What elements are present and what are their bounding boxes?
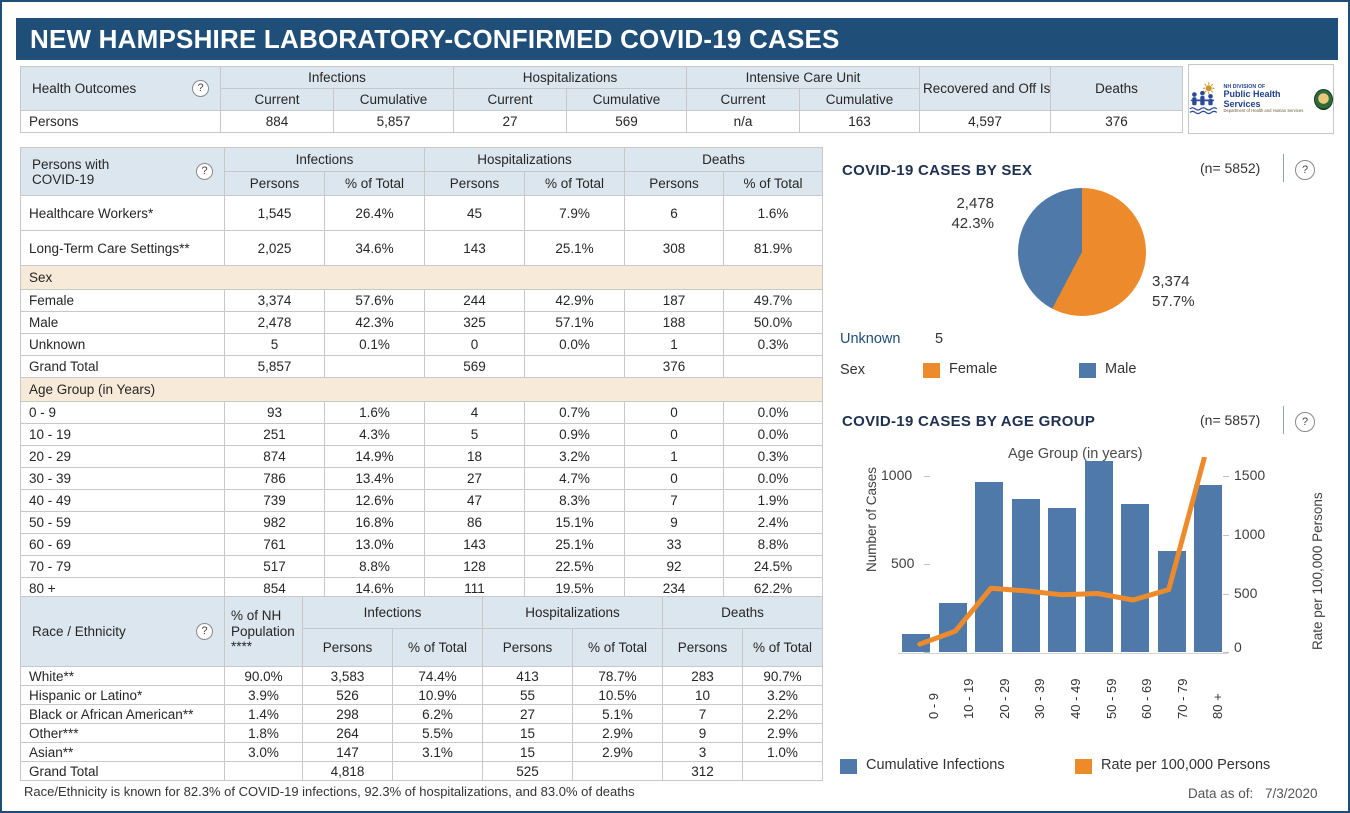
table-row: 0 - 9 93 1.6% 4 0.7% 0 0.0% [21, 402, 823, 424]
table-cell: 128 [425, 556, 525, 578]
table-cell: 93 [225, 402, 325, 424]
table-cell: 5,857 [225, 356, 325, 378]
table-cell: 2.9% [743, 724, 823, 743]
group-header-icu: Intensive Care Unit [687, 67, 920, 89]
female-count: 3,374 [1152, 272, 1244, 292]
x-tick-label: 0 - 9 [926, 693, 941, 719]
help-icon[interactable]: ? [196, 623, 213, 640]
table-cell: 526 [303, 686, 393, 705]
subheader-cell: % of Total [573, 629, 663, 667]
table-cell: 3.2% [525, 446, 625, 468]
table-cell: 3.9% [225, 686, 303, 705]
table-cell: 5.1% [573, 705, 663, 724]
subheader-cell: Persons [425, 172, 525, 196]
table-cell [743, 762, 823, 781]
table-cell: 0.7% [525, 402, 625, 424]
table-row: Female 3,374 57.6% 244 42.9% 187 49.7% [21, 290, 823, 312]
pop-header-line2: Population [231, 624, 295, 639]
health-outcomes-label: Health Outcomes [32, 81, 136, 96]
x-tick-label: 40 - 49 [1068, 679, 1083, 719]
table-cell: 15.1% [525, 512, 625, 534]
female-percent: 57.7% [1152, 292, 1244, 312]
table-cell: 2.9% [573, 724, 663, 743]
table-cell: 163 [800, 111, 920, 133]
table-cell: 569 [567, 111, 687, 133]
table-cell: 26.4% [325, 196, 425, 231]
table-cell: 308 [625, 231, 724, 266]
y2-tick-mark [1223, 535, 1229, 536]
table-cell: 10.9% [393, 686, 483, 705]
subheader-cell: Persons [225, 172, 325, 196]
row-label: Grand Total [21, 762, 225, 781]
cases-by-age-title: COVID-19 CASES BY AGE GROUP [842, 413, 1095, 430]
y2-tick-mark [1223, 594, 1229, 595]
table-cell: 6 [625, 196, 724, 231]
group-header-hospitalizations: Hospitalizations [425, 148, 625, 172]
table-cell: 0.0% [724, 468, 823, 490]
table-row: 10 - 19 251 4.3% 5 0.9% 0 0.0% [21, 424, 823, 446]
legend-label-cumulative-infections[interactable]: Cumulative Infections [866, 757, 1005, 773]
legend-label-rate[interactable]: Rate per 100,000 Persons [1101, 757, 1270, 773]
data-as-of-label: Data as of: [1188, 786, 1253, 801]
table-cell: 74.4% [393, 667, 483, 686]
table-cell: 413 [483, 667, 573, 686]
y-axis-label-right: Rate per 100,000 Persons [1310, 492, 1325, 650]
subheader-cell: % of Total [525, 172, 625, 196]
table-cell: 9 [663, 724, 743, 743]
table-cell: 10 [663, 686, 743, 705]
group-header-deaths: Deaths [1051, 67, 1183, 111]
table-cell: 15 [483, 743, 573, 762]
table-cell: 188 [625, 312, 724, 334]
table-cell: 143 [425, 231, 525, 266]
table-cell: 90.7% [743, 667, 823, 686]
cases-by-age-n: (n= 5857) [1200, 412, 1260, 428]
table-cell: 4 [425, 402, 525, 424]
x-tick-label: 20 - 29 [997, 679, 1012, 719]
row-label: Grand Total [21, 356, 225, 378]
help-icon[interactable]: ? [1295, 412, 1315, 432]
table-cell: 1.9% [724, 490, 823, 512]
male-count: 2,478 [902, 194, 994, 214]
row-label: Healthcare Workers* [21, 196, 225, 231]
row-label: 20 - 29 [21, 446, 225, 468]
table-cell: 27 [483, 705, 573, 724]
health-outcomes-table: Health Outcomes ? Infections Hospitaliza… [20, 66, 1183, 133]
help-icon[interactable]: ? [196, 163, 213, 180]
group-header-deaths: Deaths [663, 597, 823, 629]
table-cell: 147 [303, 743, 393, 762]
dashboard-page: NEW HAMPSHIRE LABORATORY-CONFIRMED COVID… [0, 0, 1350, 813]
section-band-label: Sex [21, 266, 823, 290]
table-cell: 27 [454, 111, 567, 133]
y-axis-label-left: Number of Cases [864, 467, 879, 572]
table-cell: 283 [663, 667, 743, 686]
table-cell: 0.0% [724, 402, 823, 424]
race-header-cell: Race / Ethnicity ? [21, 597, 225, 667]
table-cell: 8.8% [724, 534, 823, 556]
row-label: 0 - 9 [21, 402, 225, 424]
table-row: 40 - 49 739 12.6% 47 8.3% 7 1.9% [21, 490, 823, 512]
x-tick-label: 10 - 19 [961, 679, 976, 719]
table-cell: 2.2% [743, 705, 823, 724]
table-cell [325, 356, 425, 378]
table-cell: 3.0% [225, 743, 303, 762]
group-header-hospitalizations: Hospitalizations [454, 67, 687, 89]
table-cell: 45 [425, 196, 525, 231]
legend-swatch-rate[interactable] [1075, 759, 1092, 774]
people-sun-icon [1189, 80, 1219, 118]
table-cell: 3.1% [393, 743, 483, 762]
table-row: Healthcare Workers* 1,545 26.4% 45 7.9% … [21, 196, 823, 231]
table-cell: 5 [425, 424, 525, 446]
table-cell: 16.8% [325, 512, 425, 534]
subheader-cell: Cumulative [800, 89, 920, 111]
table-cell: 874 [225, 446, 325, 468]
table-cell: 5,857 [334, 111, 454, 133]
table-cell: 761 [225, 534, 325, 556]
table-cell: 1.6% [724, 196, 823, 231]
data-as-of-value: 7/3/2020 [1265, 786, 1318, 801]
table-cell: 4.7% [525, 468, 625, 490]
table-cell: 90.0% [225, 667, 303, 686]
table-cell: n/a [687, 111, 800, 133]
subheader-cell: Current [221, 89, 334, 111]
table-row: 30 - 39 786 13.4% 27 4.7% 0 0.0% [21, 468, 823, 490]
table-cell: 3.2% [743, 686, 823, 705]
table-cell: 9 [625, 512, 724, 534]
subheader-cell: % of Total [724, 172, 823, 196]
table-cell: 78.7% [573, 667, 663, 686]
table-row: Grand Total 4,818 525 312 [21, 762, 823, 781]
group-header-infections: Infections [221, 67, 454, 89]
group-header-hospitalizations: Hospitalizations [483, 597, 663, 629]
table-row: 60 - 69 761 13.0% 143 25.1% 33 8.8% [21, 534, 823, 556]
table-cell: 2,478 [225, 312, 325, 334]
subheader-cell: % of Total [393, 629, 483, 667]
table-cell: 2.9% [573, 743, 663, 762]
subheader-cell: Persons [303, 629, 393, 667]
x-tick-label: 80 + [1210, 693, 1225, 719]
row-label: Other*** [21, 724, 225, 743]
x-tick-label: 60 - 69 [1139, 679, 1154, 719]
divider [1283, 154, 1284, 182]
section-band-age: Age Group (in Years) [21, 378, 823, 402]
table-cell: 3,583 [303, 667, 393, 686]
table-cell: 325 [425, 312, 525, 334]
sex-pie-chart [1018, 188, 1146, 316]
race-ethnicity-note: Race/Ethnicity is known for 82.3% of COV… [24, 784, 635, 799]
group-header-recovered: Recovered and Off Isolation [920, 67, 1051, 111]
table-cell [393, 762, 483, 781]
table-cell: 5.5% [393, 724, 483, 743]
x-tick-label: 50 - 59 [1104, 679, 1119, 719]
table-cell: 264 [303, 724, 393, 743]
table-row: Other*** 1.8% 264 5.5% 15 2.9% 9 2.9% [21, 724, 823, 743]
persons-with-covid-table: Persons with COVID-19 ? Infections Hospi… [20, 147, 823, 622]
race-title: Race / Ethnicity [32, 624, 126, 639]
table-cell: 6.2% [393, 705, 483, 724]
y-tick-right: 500 [1234, 585, 1257, 601]
divider [1283, 406, 1284, 434]
table-cell [724, 356, 823, 378]
table-cell: 298 [303, 705, 393, 724]
row-label: 30 - 39 [21, 468, 225, 490]
y-tick-right: 0 [1234, 639, 1242, 655]
persons-title-line1: Persons with [32, 157, 109, 172]
table-cell: 0.3% [724, 334, 823, 356]
unknown-value: 5 [935, 331, 943, 347]
pop-percent-header: % of NH Population **** [225, 597, 303, 667]
row-label: White** [21, 667, 225, 686]
table-cell: 7.9% [525, 196, 625, 231]
table-cell: 86 [425, 512, 525, 534]
persons-title-line2: COVID-19 [32, 172, 94, 187]
table-cell: 2.4% [724, 512, 823, 534]
table-cell: 49.7% [724, 290, 823, 312]
page-title: NEW HAMPSHIRE LABORATORY-CONFIRMED COVID… [30, 24, 840, 55]
state-seal-icon [1314, 89, 1333, 110]
pop-header-line1: % of NH [231, 608, 281, 623]
pie-label-female: 3,374 57.7% [1152, 272, 1244, 313]
table-cell: 2,025 [225, 231, 325, 266]
subheader-cell: % of Total [325, 172, 425, 196]
sex-legend-title: Sex [840, 362, 865, 378]
group-header-infections: Infections [225, 148, 425, 172]
table-cell: 22.5% [525, 556, 625, 578]
table-cell: 25.1% [525, 534, 625, 556]
race-ethnicity-table: Race / Ethnicity ? % of NH Population **… [20, 596, 823, 781]
table-cell: 4,597 [920, 111, 1051, 133]
help-icon[interactable]: ? [1295, 160, 1315, 180]
subheader-cell: Current [454, 89, 567, 111]
table-cell: 25.1% [525, 231, 625, 266]
table-cell: 1 [625, 334, 724, 356]
row-label: 70 - 79 [21, 556, 225, 578]
table-cell: 8.3% [525, 490, 625, 512]
table-cell: 312 [663, 762, 743, 781]
table-cell: 42.3% [325, 312, 425, 334]
table-cell: 0 [625, 424, 724, 446]
table-cell: 14.9% [325, 446, 425, 468]
table-cell: 244 [425, 290, 525, 312]
rate-line [920, 458, 1204, 644]
table-cell: 1,545 [225, 196, 325, 231]
x-tick-label: 70 - 79 [1175, 679, 1190, 719]
section-band-label: Age Group (in Years) [21, 378, 823, 402]
table-cell: 3,374 [225, 290, 325, 312]
subheader-cell: Persons [483, 629, 573, 667]
y-tick-right: 1500 [1234, 467, 1265, 483]
dashboard-title-bar: NEW HAMPSHIRE LABORATORY-CONFIRMED COVID… [16, 18, 1338, 60]
table-cell: 0.1% [325, 334, 425, 356]
nh-dhhs-logo: NH DIVISION OF Public Health Services De… [1188, 64, 1334, 134]
legend-label-male[interactable]: Male [1105, 361, 1136, 377]
table-cell: 8.8% [325, 556, 425, 578]
pie-label-male: 2,478 42.3% [902, 194, 994, 235]
subheader-cell: Persons [663, 629, 743, 667]
table-cell: 3 [663, 743, 743, 762]
table-cell: 57.6% [325, 290, 425, 312]
table-cell: 0.0% [525, 334, 625, 356]
table-cell: 143 [425, 534, 525, 556]
table-row: 50 - 59 982 16.8% 86 15.1% 9 2.4% [21, 512, 823, 534]
table-row: Grand Total 5,857 569 376 [21, 356, 823, 378]
row-label: 50 - 59 [21, 512, 225, 534]
table-cell: 0.9% [525, 424, 625, 446]
table-cell: 0 [625, 468, 724, 490]
table-cell: 18 [425, 446, 525, 468]
table-cell: 786 [225, 468, 325, 490]
table-cell: 982 [225, 512, 325, 534]
table-cell: 10.5% [573, 686, 663, 705]
row-label: Black or African American** [21, 705, 225, 724]
row-label: Asian** [21, 743, 225, 762]
legend-swatch-female[interactable] [923, 363, 940, 378]
table-cell: 0.0% [724, 424, 823, 446]
row-label: 10 - 19 [21, 424, 225, 446]
table-row: Asian** 3.0% 147 3.1% 15 2.9% 3 1.0% [21, 743, 823, 762]
table-cell: 884 [221, 111, 334, 133]
row-label: Persons [21, 111, 221, 133]
table-cell: 24.5% [724, 556, 823, 578]
table-row: Long-Term Care Settings** 2,025 34.6% 14… [21, 231, 823, 266]
logo-line-3: Department of Health and Human Services [1223, 109, 1310, 113]
table-cell [525, 356, 625, 378]
table-row: Male 2,478 42.3% 325 57.1% 188 50.0% [21, 312, 823, 334]
subheader-cell: Cumulative [567, 89, 687, 111]
table-cell: 4,818 [303, 762, 393, 781]
table-cell: 7 [663, 705, 743, 724]
x-axis-line [898, 653, 1228, 654]
table-cell: 1.6% [325, 402, 425, 424]
table-cell: 1 [625, 446, 724, 468]
table-cell: 15 [483, 724, 573, 743]
section-band-sex: Sex [21, 266, 823, 290]
table-cell: 739 [225, 490, 325, 512]
table-row: Unknown 5 0.1% 0 0.0% 1 0.3% [21, 334, 823, 356]
table-cell: 5 [225, 334, 325, 356]
table-cell: 13.0% [325, 534, 425, 556]
legend-swatch-cumulative-infections[interactable] [840, 759, 857, 774]
table-cell: 27 [425, 468, 525, 490]
table-cell: 569 [425, 356, 525, 378]
table-cell [573, 762, 663, 781]
health-outcomes-header-cell: Health Outcomes ? [21, 67, 221, 111]
table-cell: 92 [625, 556, 724, 578]
row-label: 60 - 69 [21, 534, 225, 556]
table-row: White** 90.0% 3,583 74.4% 413 78.7% 283 … [21, 667, 823, 686]
table-cell: 42.9% [525, 290, 625, 312]
row-label: Unknown [21, 334, 225, 356]
table-cell: 0 [625, 402, 724, 424]
x-tick-label: 30 - 39 [1032, 679, 1047, 719]
table-cell: 1.8% [225, 724, 303, 743]
legend-swatch-male[interactable] [1079, 363, 1096, 378]
subheader-cell: Cumulative [334, 89, 454, 111]
table-row: 70 - 79 517 8.8% 128 22.5% 92 24.5% [21, 556, 823, 578]
cases-by-sex-title: COVID-19 CASES BY SEX [842, 162, 1032, 179]
table-cell: 33 [625, 534, 724, 556]
table-cell: 13.4% [325, 468, 425, 490]
cases-by-sex-n: (n= 5852) [1200, 160, 1260, 176]
row-label: 40 - 49 [21, 490, 225, 512]
y-tick-right: 1000 [1234, 526, 1265, 542]
help-icon[interactable]: ? [192, 80, 209, 97]
table-cell: 187 [625, 290, 724, 312]
group-header-deaths: Deaths [625, 148, 823, 172]
unknown-label: Unknown [840, 331, 900, 347]
logo-line-2: Public Health Services [1223, 90, 1310, 109]
legend-label-female[interactable]: Female [949, 361, 997, 377]
table-cell: 12.6% [325, 490, 425, 512]
pop-header-line3: **** [231, 639, 252, 654]
y2-tick-mark [1223, 476, 1229, 477]
subheader-cell: Current [687, 89, 800, 111]
table-cell: 81.9% [724, 231, 823, 266]
row-label: Long-Term Care Settings** [21, 231, 225, 266]
table-cell: 251 [225, 424, 325, 446]
table-cell: 517 [225, 556, 325, 578]
table-cell: 34.6% [325, 231, 425, 266]
table-cell: 525 [483, 762, 573, 781]
table-cell: 0.3% [724, 446, 823, 468]
table-row: Hispanic or Latino* 3.9% 526 10.9% 55 10… [21, 686, 823, 705]
row-label: Male [21, 312, 225, 334]
table-cell: 47 [425, 490, 525, 512]
table-cell: 376 [625, 356, 724, 378]
row-label: Hispanic or Latino* [21, 686, 225, 705]
table-row: Black or African American** 1.4% 298 6.2… [21, 705, 823, 724]
table-cell: 376 [1051, 111, 1183, 133]
subheader-cell: % of Total [743, 629, 823, 667]
subheader-cell: Persons [625, 172, 724, 196]
table-row: 20 - 29 874 14.9% 18 3.2% 1 0.3% [21, 446, 823, 468]
table-row: Persons 884 5,857 27 569 n/a 163 4,597 3… [21, 111, 1183, 133]
table-cell: 1.4% [225, 705, 303, 724]
table-cell: 50.0% [724, 312, 823, 334]
table-cell: 1.0% [743, 743, 823, 762]
table-cell: 0 [425, 334, 525, 356]
group-header-infections: Infections [303, 597, 483, 629]
rate-line-series [902, 457, 1222, 652]
table-cell: 57.1% [525, 312, 625, 334]
table-cell [225, 762, 303, 781]
row-label: Female [21, 290, 225, 312]
table-cell: 4.3% [325, 424, 425, 446]
persons-header-cell: Persons with COVID-19 ? [21, 148, 225, 196]
table-cell: 7 [625, 490, 724, 512]
male-percent: 42.3% [902, 214, 994, 234]
table-cell: 55 [483, 686, 573, 705]
